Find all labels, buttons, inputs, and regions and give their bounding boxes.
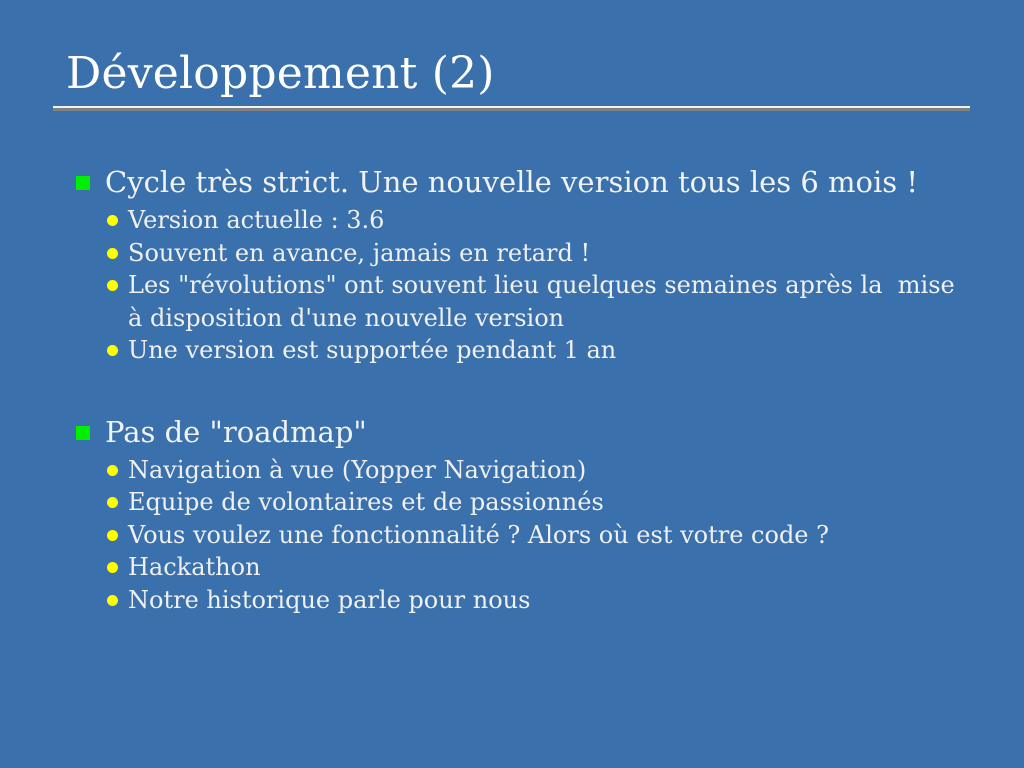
slide-canvas: Développement (2) Cycle très strict. Une…: [0, 0, 1024, 768]
list-item: Hackathon: [76, 551, 976, 584]
bullet-group: Cycle très strict. Une nouvelle version …: [76, 163, 976, 367]
bullet-level2-list: Navigation à vue (Yopper Navigation) Equ…: [76, 454, 976, 617]
bullet-level2-label: Vous voulez une fonctionnalité ? Alors o…: [128, 519, 976, 552]
circle-bullet-icon: [107, 345, 118, 356]
circle-bullet-icon: [107, 280, 118, 291]
title-divider: [53, 106, 970, 111]
bullet-level2-label: Hackathon: [128, 551, 976, 584]
list-item: Une version est supportée pendant 1 an: [76, 334, 976, 367]
list-item: Souvent en avance, jamais en retard !: [76, 237, 976, 270]
bullet-level2-list: Version actuelle : 3.6 Souvent en avance…: [76, 204, 976, 367]
bullet-level2-label: Souvent en avance, jamais en retard !: [128, 237, 976, 270]
list-item: Version actuelle : 3.6: [76, 204, 976, 237]
circle-bullet-icon: [107, 248, 118, 259]
bullet-level1: Cycle très strict. Une nouvelle version …: [76, 163, 976, 201]
circle-bullet-icon: [107, 497, 118, 508]
bullet-level2-label: Equipe de volontaires et de passionnés: [128, 486, 976, 519]
bullet-level1-label: Cycle très strict. Une nouvelle version …: [105, 163, 976, 201]
circle-bullet-icon: [107, 595, 118, 606]
slide-body: Cycle très strict. Une nouvelle version …: [76, 163, 976, 616]
square-bullet-icon: [76, 176, 90, 190]
list-item: Equipe de volontaires et de passionnés: [76, 486, 976, 519]
bullet-level2-label: Version actuelle : 3.6: [128, 204, 976, 237]
list-item: Notre historique parle pour nous: [76, 584, 976, 617]
bullet-group: Pas de "roadmap" Navigation à vue (Yoppe…: [76, 413, 976, 617]
list-item: Navigation à vue (Yopper Navigation): [76, 454, 976, 487]
bullet-level2-label: Une version est supportée pendant 1 an: [128, 334, 976, 367]
circle-bullet-icon: [107, 562, 118, 573]
bullet-level1: Pas de "roadmap": [76, 413, 976, 451]
bullet-level2-label: Notre historique parle pour nous: [128, 584, 976, 617]
list-item: Les "révolutions" ont souvent lieu quelq…: [76, 269, 976, 334]
bullet-level2-label: Navigation à vue (Yopper Navigation): [128, 454, 976, 487]
circle-bullet-icon: [107, 215, 118, 226]
square-bullet-icon: [76, 426, 90, 440]
bullet-level2-label: Les "révolutions" ont souvent lieu quelq…: [128, 269, 976, 334]
list-item: Vous voulez une fonctionnalité ? Alors o…: [76, 519, 976, 552]
circle-bullet-icon: [107, 465, 118, 476]
page-title: Développement (2): [53, 48, 970, 100]
slide-title-block: Développement (2): [53, 48, 970, 111]
bullet-level1-label: Pas de "roadmap": [105, 413, 976, 451]
circle-bullet-icon: [107, 530, 118, 541]
